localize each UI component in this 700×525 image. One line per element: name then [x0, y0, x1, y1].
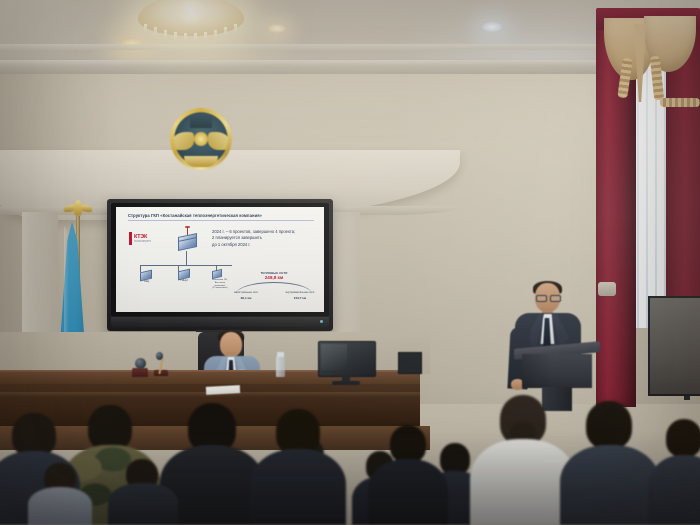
emblem-sun-icon — [194, 132, 208, 146]
network-leg-value: 96,1 км — [226, 296, 266, 300]
conference-hall-photo: Структура ГКП «Костанайская теплоэнергет… — [0, 0, 700, 525]
downlight-icon — [268, 24, 286, 33]
presentation-slide: Структура ГКП «Костанайская теплоэнергет… — [116, 207, 324, 312]
water-bottle — [276, 356, 285, 377]
crystal-chandelier — [132, 0, 250, 52]
tree-trunk — [186, 251, 187, 265]
presentation-screen[interactable]: Структура ГКП «Костанайская теплоэнергет… — [107, 199, 333, 331]
tree-leg — [140, 265, 141, 272]
microphone-base — [154, 370, 168, 376]
chandelier-core-light — [176, 0, 206, 22]
wall-speaker-icon — [598, 282, 616, 296]
logo-red-bar — [129, 232, 132, 245]
microphone-icon — [135, 358, 146, 369]
downlight-icon — [482, 22, 502, 32]
logo-text: КТЭК — [134, 234, 147, 240]
microphone-base — [132, 368, 148, 377]
network-total-value: 249,8 км — [242, 275, 306, 280]
curtain-tieback — [660, 98, 700, 107]
cornice-upper — [0, 44, 700, 50]
network-leg-value: 153,7 км — [280, 296, 320, 300]
slide-body-line: до 1 октября 2024 г. — [212, 242, 320, 248]
monitor-screen — [398, 352, 422, 374]
slide-body-text: 2024 г. – 6 проектов, завершено 4 проект… — [212, 229, 320, 248]
heat-network-diagram: ТЕПЛОВЫЕ СЕТИ 249,8 км магистральные сет… — [228, 271, 320, 307]
ktek-logo: КТЭК ТЕПЛОЭНЕРГО — [129, 231, 163, 246]
slide-title: Структура ГКП «Костанайская теплоэнергет… — [128, 213, 314, 218]
node-label: ТЭЦ — [131, 280, 161, 283]
audience-shadow — [0, 430, 700, 525]
chandelier-crystals — [138, 24, 244, 46]
cornice-molding — [0, 60, 700, 74]
monitor-glare — [321, 344, 347, 370]
power-led-icon — [320, 320, 323, 323]
lens-right — [550, 295, 561, 302]
screen-chin — [111, 317, 329, 327]
secondary-monitor[interactable] — [398, 352, 420, 378]
org-root-node — [176, 234, 198, 250]
network-leg-label: магистральные сети — [226, 291, 266, 294]
node-server-icon — [212, 269, 222, 279]
water-bottle-cap — [277, 352, 284, 357]
tree-bar — [140, 265, 232, 266]
network-leg-label: внутриквартальные сети — [280, 291, 320, 294]
logo-subtext: ТЕПЛОЭНЕРГО — [134, 241, 151, 243]
finial-spike — [74, 200, 82, 216]
node-label: ТЭЦ-2 — [169, 279, 199, 282]
eyeglasses-icon — [536, 295, 559, 300]
microphone-icon — [156, 352, 163, 360]
lens-left — [536, 295, 547, 302]
kazakhstan-state-emblem-icon — [168, 108, 234, 170]
slide-title-rule — [128, 220, 314, 221]
